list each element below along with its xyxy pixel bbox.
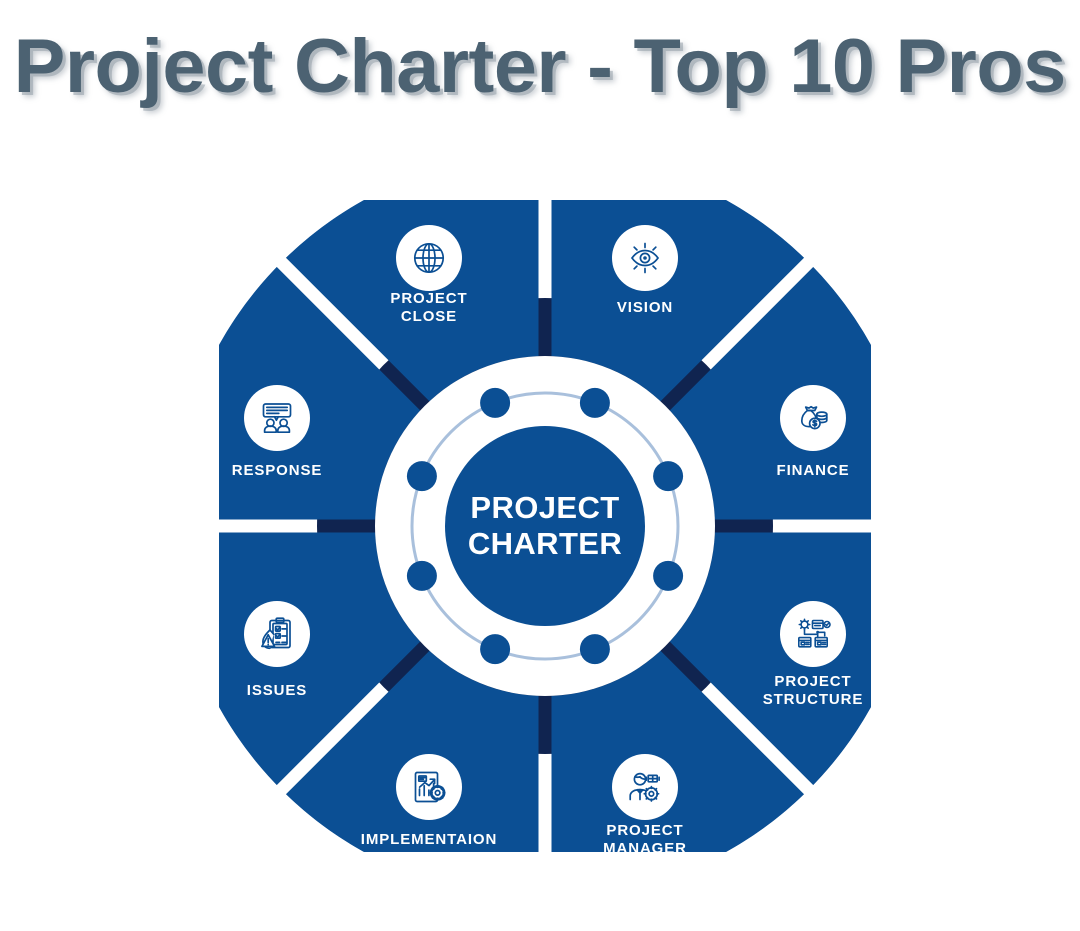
person-gear-icon [625,767,665,807]
wheel-graphic [172,153,918,899]
title-bar: Project Charter - Top 10 Pros [0,0,1080,132]
finance-icon-badge [780,385,846,451]
chart-document-gear-icon [409,767,449,807]
ring-dot [653,461,683,491]
gear-flowchart-icon [793,614,833,654]
project-manager-icon-badge [612,754,678,820]
globe-icon [409,238,449,278]
project-charter-wheel: PROJECT CHARTER VISION FINANCE [172,153,918,899]
money-bag-coins-icon [793,398,833,438]
speech-bubble-people-icon [257,398,297,438]
eye-vision-icon [625,238,665,278]
ring-dot [580,388,610,418]
ring-dot [480,388,510,418]
project-close-icon-badge [396,225,462,291]
ring-dot [407,461,437,491]
issues-icon-badge [244,601,310,667]
ring-dot [480,634,510,664]
center-disc [445,426,645,626]
response-icon-badge [244,385,310,451]
vision-icon-badge [612,225,678,291]
page-title: Project Charter - Top 10 Pros [14,23,1066,110]
clipboard-warning-icon [257,614,297,654]
ring-dot [580,634,610,664]
project-structure-icon-badge [780,601,846,667]
ring-dot [653,561,683,591]
implementation-icon-badge [396,754,462,820]
ring-dot [407,561,437,591]
